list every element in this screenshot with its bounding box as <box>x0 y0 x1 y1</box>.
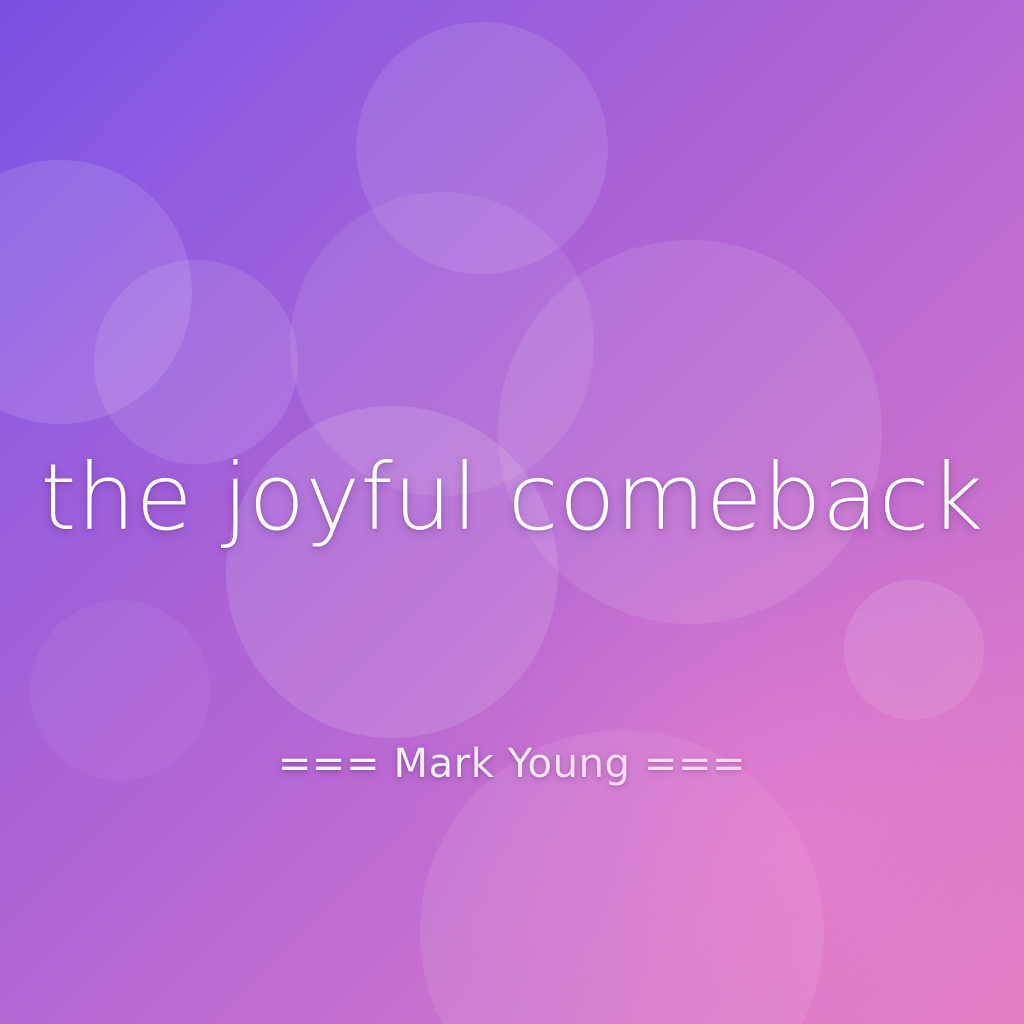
album-cover-canvas: the joyful comeback === Mark Young === <box>0 0 1024 1024</box>
cover-text-content: the joyful comeback === Mark Young === <box>0 0 1024 1024</box>
album-artist-line: === Mark Young === <box>0 741 1024 787</box>
album-title: the joyful comeback <box>0 452 1024 544</box>
